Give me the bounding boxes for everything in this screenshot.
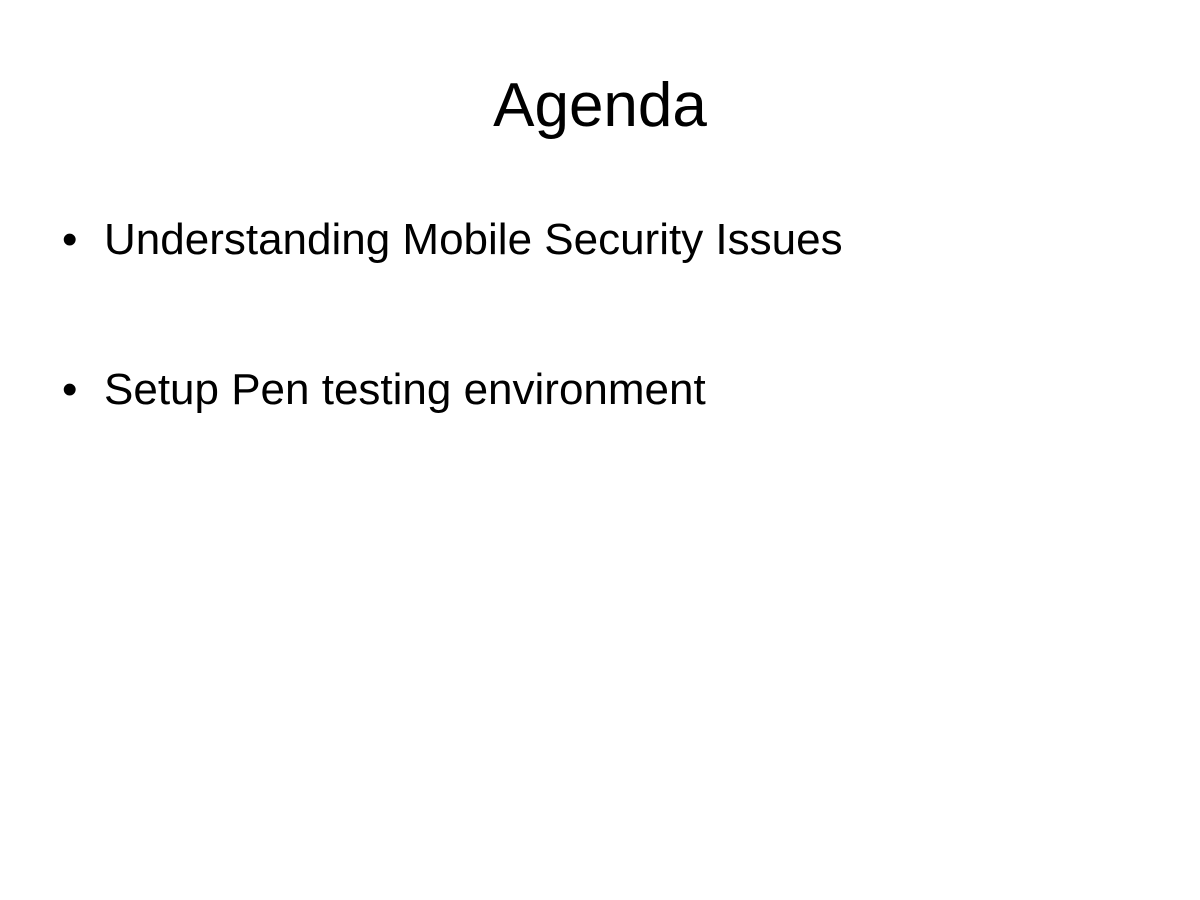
bullet-dot-icon: • — [52, 358, 104, 422]
bullet-dot-icon: • — [52, 208, 104, 272]
presentation-slide: Agenda • Understanding Mobile Security I… — [0, 0, 1200, 900]
list-item[interactable]: • Setup Pen testing environment — [52, 358, 1152, 434]
bullet-text: Setup Pen testing environment — [104, 358, 1152, 422]
blank-text — [104, 284, 1152, 358]
agenda-bullet-list: • Understanding Mobile Security Issues •… — [52, 208, 1152, 434]
blank-line — [52, 284, 1152, 358]
bullet-text: Understanding Mobile Security Issues — [104, 208, 1152, 272]
page-title: Agenda — [0, 72, 1200, 140]
list-item[interactable]: • Understanding Mobile Security Issues — [52, 208, 1152, 284]
